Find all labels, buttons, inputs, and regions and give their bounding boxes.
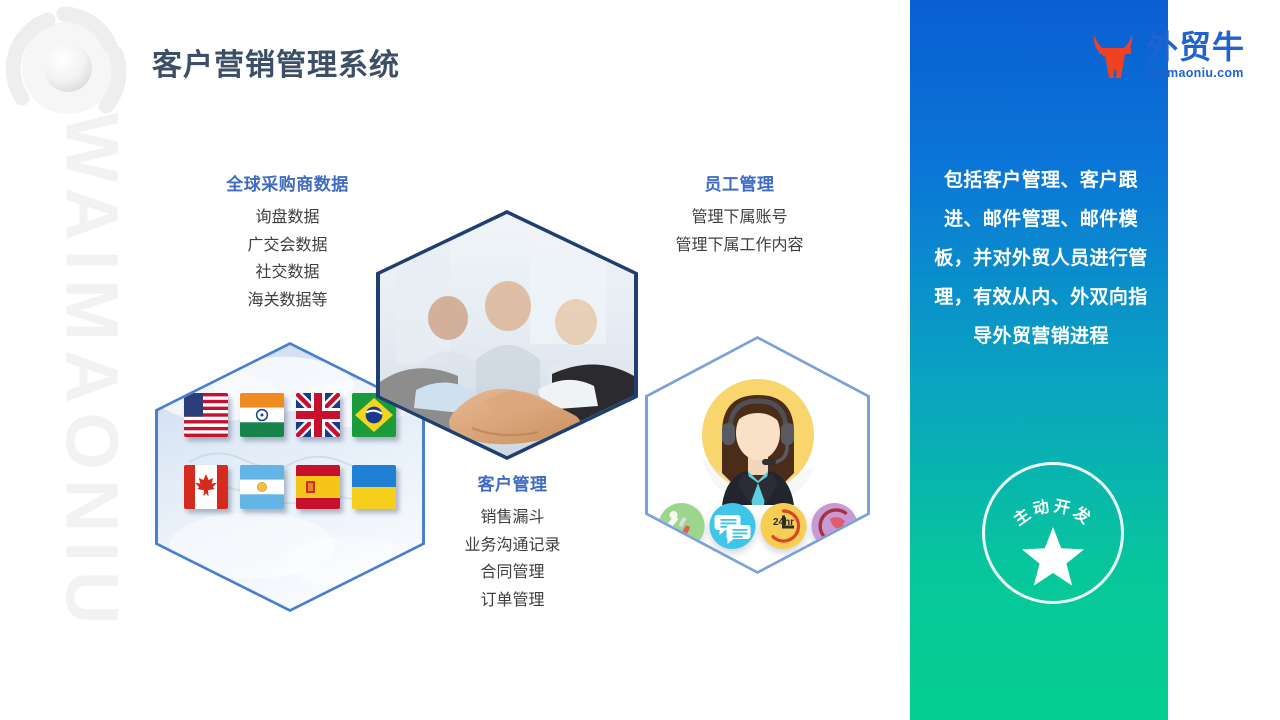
brand-url: waimaoniu.com bbox=[1146, 67, 1245, 80]
service-badge-row: 24hr bbox=[658, 503, 857, 549]
tools-icon bbox=[658, 503, 704, 549]
section-item: 广交会数据 bbox=[180, 232, 395, 260]
active-development-badge: 主动开发 bbox=[982, 462, 1124, 604]
page-title: 客户营销管理系统 bbox=[152, 40, 400, 84]
panel-description: 包括客户管理、客户跟进、邮件管理、邮件模板，并对外贸人员进行管理，有效从内、外双… bbox=[930, 162, 1152, 357]
section-staff-management: 员工管理 管理下属账号 管理下属工作内容 bbox=[632, 170, 847, 259]
bull-head-icon bbox=[1090, 28, 1140, 82]
section-item: 询盘数据 bbox=[180, 204, 395, 232]
flag-india bbox=[240, 393, 284, 437]
section-item: 销售漏斗 bbox=[405, 504, 620, 532]
badge-curved-text: 主动开发 bbox=[1010, 497, 1097, 529]
section-item: 管理下属工作内容 bbox=[632, 232, 847, 260]
section-global-buyer-data: 全球采购商数据 询盘数据 广交会数据 社交数据 海关数据等 bbox=[180, 170, 395, 314]
flag-united-kingdom bbox=[296, 393, 340, 437]
phone-support-icon bbox=[811, 503, 857, 549]
page-watermark: WAIMAONIU bbox=[50, 113, 135, 633]
section-heading: 全球采购商数据 bbox=[180, 170, 395, 195]
brand-name: 外贸牛 bbox=[1146, 31, 1245, 63]
support-agent-avatar bbox=[692, 373, 824, 510]
section-item: 海关数据等 bbox=[180, 287, 395, 315]
section-item: 业务沟通记录 bbox=[405, 532, 620, 560]
right-gradient-panel bbox=[910, 0, 1168, 720]
flag-grid bbox=[158, 393, 422, 517]
flag-spain bbox=[296, 465, 340, 509]
flag-argentina bbox=[240, 465, 284, 509]
section-heading: 员工管理 bbox=[632, 170, 847, 195]
section-item: 社交数据 bbox=[180, 259, 395, 287]
svg-text:24hr: 24hr bbox=[772, 517, 793, 528]
star-icon bbox=[1022, 527, 1084, 586]
24hr-clock-icon: 24hr bbox=[760, 503, 806, 549]
brand-logo: 外贸牛 waimaoniu.com bbox=[1090, 28, 1245, 82]
svg-text:主动开发: 主动开发 bbox=[1010, 497, 1097, 529]
flag-canada bbox=[184, 465, 228, 509]
section-heading: 客户管理 bbox=[405, 470, 620, 495]
flag-united-states bbox=[184, 393, 228, 437]
section-item: 合同管理 bbox=[405, 559, 620, 587]
section-item: 订单管理 bbox=[405, 587, 620, 615]
flag-ukraine bbox=[352, 465, 396, 509]
section-item: 管理下属账号 bbox=[632, 204, 847, 232]
section-customer-management: 客户管理 销售漏斗 业务沟通记录 合同管理 订单管理 bbox=[405, 470, 620, 614]
chat-bubbles-icon bbox=[709, 503, 755, 549]
customer-service-hexagon: 24hr bbox=[645, 336, 870, 574]
